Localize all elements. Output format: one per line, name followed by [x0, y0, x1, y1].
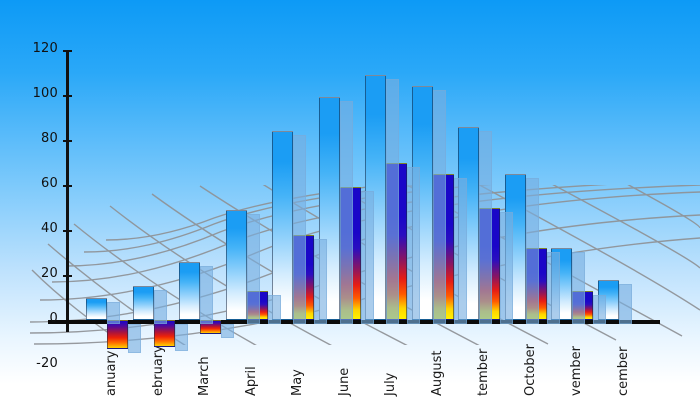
bar-depth-shadow — [314, 239, 327, 325]
x-axis-label-december: cember — [616, 347, 631, 396]
y-axis-tick-label: 40 — [12, 221, 58, 236]
bar-depth-shadow — [340, 101, 353, 324]
y-axis-tick-mark — [63, 230, 72, 232]
y-axis-tick-label: 120 — [12, 41, 58, 56]
bar-depth-shadow — [619, 284, 632, 325]
x-axis-label-june: June — [337, 368, 352, 396]
bar-depth-shadow — [293, 135, 306, 324]
bar-face — [86, 298, 107, 321]
bar-depth-shadow — [433, 90, 446, 324]
bar-face — [179, 262, 200, 321]
x-axis-label-august: August — [430, 351, 445, 397]
y-axis-tick-label: 80 — [12, 131, 58, 146]
bar-depth-shadow — [479, 131, 492, 325]
y-axis-tick-label: 60 — [12, 176, 58, 191]
bar-march-series1[interactable] — [179, 262, 200, 321]
bar-depth-shadow — [107, 302, 120, 325]
x-axis-label-september: tember — [476, 349, 491, 396]
bar-depth-shadow — [175, 324, 188, 351]
y-axis-tick-label: -20 — [12, 356, 58, 371]
bar-depth-shadow — [572, 252, 585, 324]
bar-depth-shadow — [547, 252, 560, 324]
chart-canvas: -20020406080100120 anuaryebruaryMarchApr… — [0, 0, 700, 400]
bar-depth-shadow — [247, 214, 260, 324]
bar-depth-shadow — [221, 324, 234, 338]
y-axis-tick-mark — [63, 140, 72, 142]
bar-face — [272, 131, 293, 320]
bar-depth-shadow — [593, 295, 606, 324]
x-axis-label-july: July — [383, 373, 398, 396]
plot-area: -20020406080100120 anuaryebruaryMarchApr… — [0, 0, 700, 400]
y-axis-tick-mark — [63, 185, 72, 187]
x-axis-label-october: October — [523, 344, 538, 396]
bar-face — [133, 286, 154, 320]
y-axis-tick-mark — [63, 275, 72, 277]
x-axis-label-february: ebruary — [151, 345, 166, 396]
y-axis — [66, 50, 69, 332]
y-axis-tick-mark — [63, 50, 72, 52]
x-axis-label-january: anuary — [104, 351, 119, 396]
y-axis-tick-label: 100 — [12, 86, 58, 101]
bar-face — [154, 320, 175, 347]
bar-depth-shadow — [128, 324, 141, 353]
bar-depth-shadow — [268, 295, 281, 324]
bar-depth-shadow — [361, 191, 374, 324]
bar-depth-shadow — [386, 79, 399, 324]
x-axis-label-november: vember — [569, 346, 584, 396]
bar-january-series1[interactable] — [86, 298, 107, 321]
x-axis-label-april: April — [244, 366, 259, 396]
bar-april-series1[interactable] — [226, 210, 247, 320]
y-axis-tick-mark — [63, 95, 72, 97]
bar-face — [226, 210, 247, 320]
bar-depth-shadow — [500, 212, 513, 325]
bar-depth-shadow — [526, 178, 539, 324]
bar-face — [107, 320, 128, 349]
x-axis-label-march: March — [197, 356, 212, 396]
x-axis-label-may: May — [290, 369, 305, 396]
bar-february-series2[interactable] — [154, 320, 175, 347]
bar-depth-shadow — [200, 266, 213, 325]
y-axis-tick-label: 0 — [12, 311, 58, 326]
bar-january-series2[interactable] — [107, 320, 128, 349]
bar-may-series1[interactable] — [272, 131, 293, 320]
bar-depth-shadow — [407, 167, 420, 325]
bar-depth-shadow — [154, 290, 167, 324]
y-axis-tick-label: 20 — [12, 266, 58, 281]
bar-february-series1[interactable] — [133, 286, 154, 320]
bar-depth-shadow — [454, 178, 467, 324]
